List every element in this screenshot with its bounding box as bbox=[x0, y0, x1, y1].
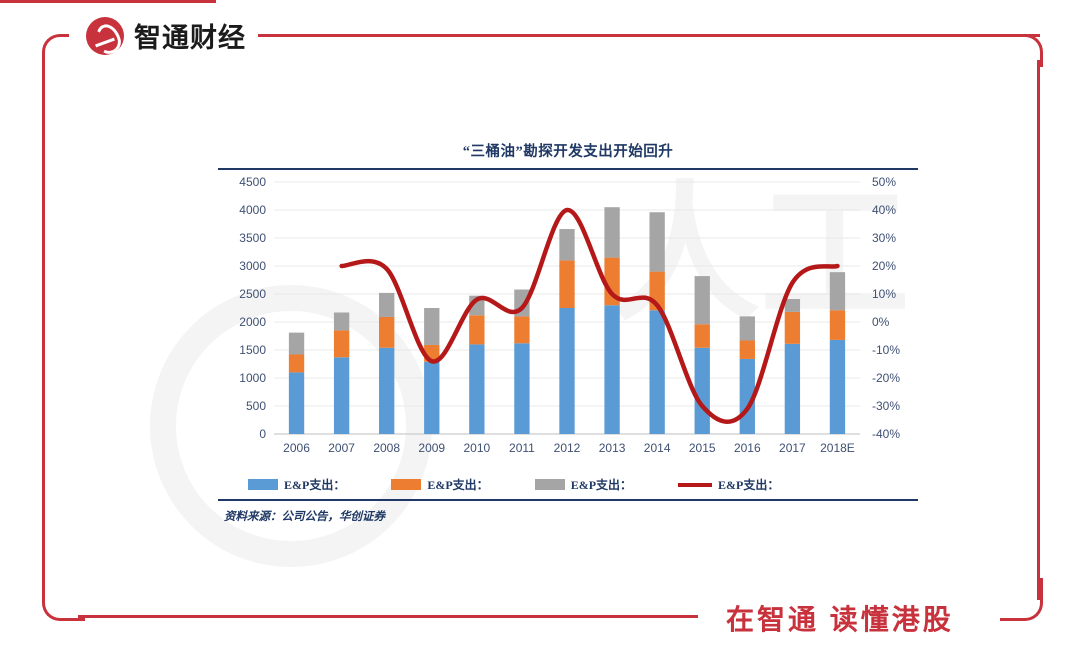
bar-segment bbox=[469, 315, 484, 344]
x-axis-tick-label: 2018E bbox=[820, 441, 855, 455]
bar-segment bbox=[334, 312, 349, 330]
y2-axis-tick-label: 50% bbox=[872, 175, 896, 189]
legend-label: E&P支出： bbox=[427, 476, 488, 493]
y2-axis-tick-label: 40% bbox=[872, 203, 896, 217]
x-axis-tick-label: 2010 bbox=[463, 441, 490, 455]
x-axis-tick-label: 2014 bbox=[644, 441, 671, 455]
bar-segment bbox=[785, 344, 800, 434]
frame-right-border bbox=[1037, 60, 1040, 600]
brand-header: 智通财经 bbox=[86, 16, 246, 55]
y-axis-tick-label: 1500 bbox=[239, 343, 266, 357]
bar-segment bbox=[785, 299, 800, 312]
bar-segment bbox=[695, 276, 710, 324]
source-note: 资料来源：公司公告，华创证券 bbox=[218, 501, 918, 524]
legend-line-swatch bbox=[678, 483, 712, 487]
legend-item[interactable]: E&P支出： bbox=[535, 476, 632, 493]
legend-color-swatch bbox=[535, 479, 565, 490]
chart-card: “三桶油”勘探开发支出开始回升 050010001500200025003000… bbox=[218, 140, 918, 524]
bar-segment bbox=[830, 310, 845, 340]
zhitong-logo-icon bbox=[86, 17, 124, 55]
x-axis-tick-label: 2013 bbox=[599, 441, 626, 455]
y-axis-tick-label: 2500 bbox=[239, 287, 266, 301]
legend-label: E&P支出： bbox=[571, 476, 632, 493]
legend-item[interactable]: E&P支出： bbox=[678, 476, 779, 493]
bar-segment bbox=[649, 212, 664, 271]
bar-segment bbox=[830, 340, 845, 434]
bar-segment bbox=[379, 348, 394, 434]
brand-name: 智通财经 bbox=[134, 16, 246, 55]
y2-axis-tick-label: -40% bbox=[872, 427, 900, 441]
bar-segment bbox=[514, 316, 529, 343]
frame-bottom-border bbox=[78, 615, 698, 618]
x-axis-tick-label: 2015 bbox=[689, 441, 716, 455]
legend-item[interactable]: E&P支出： bbox=[391, 476, 488, 493]
bar-segment bbox=[695, 348, 710, 434]
frame-corner-top-left bbox=[42, 34, 69, 61]
frame-top-left-segment bbox=[0, 0, 216, 3]
bar-segment bbox=[785, 312, 800, 344]
y2-axis-tick-label: 0% bbox=[872, 315, 890, 329]
y-axis-tick-label: 3500 bbox=[239, 231, 266, 245]
chart-title: “三桶油”勘探开发支出开始回升 bbox=[218, 140, 918, 168]
bar-segment bbox=[334, 357, 349, 434]
y2-axis-tick-label: 10% bbox=[872, 287, 896, 301]
frame-top-border bbox=[258, 34, 1040, 37]
bar-segment bbox=[559, 308, 574, 434]
bar-segment bbox=[559, 229, 574, 260]
bar-segment bbox=[649, 310, 664, 434]
y2-axis-tick-label: -30% bbox=[872, 399, 900, 413]
y-axis-tick-label: 0 bbox=[259, 427, 266, 441]
y-axis-tick-label: 1000 bbox=[239, 371, 266, 385]
bar-segment bbox=[514, 343, 529, 434]
bar-segment bbox=[830, 272, 845, 310]
bar-segment bbox=[289, 333, 304, 355]
bar-segment bbox=[469, 344, 484, 434]
legend-item[interactable]: E&P支出： bbox=[248, 476, 345, 493]
legend-label: E&P支出： bbox=[284, 476, 345, 493]
bar-segment bbox=[604, 305, 619, 434]
slide-page: 人工 智通财经 “三桶油”勘探开发支出开始回升 0500100015002000… bbox=[0, 0, 1080, 647]
bar-segment bbox=[289, 372, 304, 434]
tagline: 在智通 读懂港股 bbox=[726, 598, 954, 638]
y2-axis-tick-label: -10% bbox=[872, 343, 900, 357]
chart-legend: E&P支出：E&P支出：E&P支出：E&P支出： bbox=[218, 470, 918, 497]
x-axis-tick-label: 2016 bbox=[734, 441, 761, 455]
bar-segment bbox=[379, 317, 394, 348]
bar-segment bbox=[424, 308, 439, 345]
y2-axis-tick-label: 30% bbox=[872, 231, 896, 245]
y2-axis-tick-label: 20% bbox=[872, 259, 896, 273]
legend-label: E&P支出： bbox=[718, 476, 779, 493]
bar-segment bbox=[289, 354, 304, 372]
y-axis-tick-label: 4000 bbox=[239, 203, 266, 217]
y-axis-tick-label: 3000 bbox=[239, 259, 266, 273]
x-axis-tick-label: 2008 bbox=[373, 441, 400, 455]
chart-plot-area: 050010001500200025003000350040004500-40%… bbox=[218, 170, 918, 470]
bar-segment bbox=[604, 207, 619, 257]
y-axis-tick-label: 2000 bbox=[239, 315, 266, 329]
legend-color-swatch bbox=[391, 479, 421, 490]
chart-svg: 050010001500200025003000350040004500-40%… bbox=[218, 170, 918, 470]
x-axis-tick-label: 2006 bbox=[283, 441, 310, 455]
bar-segment bbox=[695, 324, 710, 348]
x-axis-tick-label: 2009 bbox=[418, 441, 445, 455]
bar-segment bbox=[379, 293, 394, 317]
frame-corner-bottom-right bbox=[1000, 578, 1043, 621]
y-axis-tick-label: 4500 bbox=[239, 175, 266, 189]
bar-segment bbox=[559, 260, 574, 308]
bar-segment bbox=[424, 362, 439, 434]
growth-rate-line bbox=[342, 210, 838, 422]
legend-color-swatch bbox=[248, 479, 278, 490]
x-axis-tick-label: 2011 bbox=[509, 441, 535, 455]
x-axis-tick-label: 2012 bbox=[554, 441, 581, 455]
y-axis-tick-label: 500 bbox=[246, 399, 266, 413]
bar-segment bbox=[740, 316, 755, 340]
x-axis-tick-label: 2017 bbox=[779, 441, 806, 455]
frame-left-border bbox=[42, 52, 45, 600]
bar-segment bbox=[740, 340, 755, 358]
y2-axis-tick-label: -20% bbox=[872, 371, 900, 385]
x-axis-tick-label: 2007 bbox=[328, 441, 355, 455]
bar-segment bbox=[334, 330, 349, 357]
